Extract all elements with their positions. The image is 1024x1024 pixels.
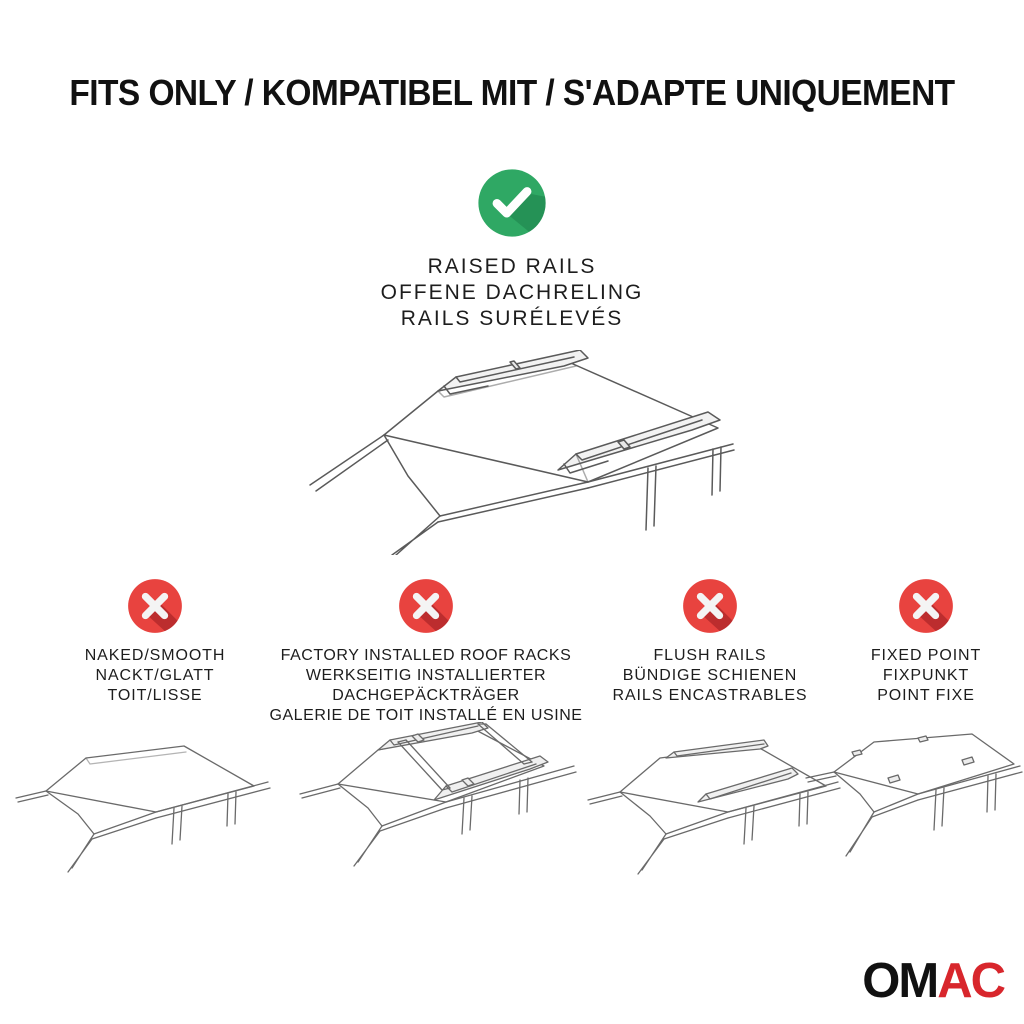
label-de-2: DACHGEPÄCKTRÄGER xyxy=(269,686,582,706)
compatible-section: RAISED RAILS OFFENE DACHRELING RAILS SUR… xyxy=(0,168,1024,332)
label-fr: POINT FIXE xyxy=(871,686,981,706)
label-de: FIXPUNKT xyxy=(871,666,981,686)
check-circle-icon xyxy=(477,168,547,238)
omac-logo: OMAC xyxy=(862,957,1004,1006)
incompatible-labels-flush-rails: FLUSH RAILS BÜNDIGE SCHIENEN RAILS ENCAS… xyxy=(613,646,808,706)
logo-text-dark: OM xyxy=(862,954,937,1008)
label-de: BÜNDIGE SCHIENEN xyxy=(613,666,808,686)
label-en: NAKED/SMOOTH xyxy=(85,646,226,666)
x-circle-icon xyxy=(127,578,183,634)
incompatible-labels-factory-racks: FACTORY INSTALLED ROOF RACKS WERKSEITIG … xyxy=(269,646,582,726)
label-de-1: WERKSEITIG INSTALLIERTER xyxy=(269,666,582,686)
compatible-labels: RAISED RAILS OFFENE DACHRELING RAILS SUR… xyxy=(381,254,644,332)
label-de: NACKT/GLATT xyxy=(85,666,226,686)
car-roof-factory-rack-illustration xyxy=(286,722,586,897)
incompatible-card-fixed-point: FIXED POINT FIXPUNKT POINT FIXE xyxy=(828,578,1024,706)
incompatible-labels-naked-smooth: NAKED/SMOOTH NACKT/GLATT TOIT/LISSE xyxy=(85,646,226,706)
label-fr: TOIT/LISSE xyxy=(85,686,226,706)
compatible-label-de: OFFENE DACHRELING xyxy=(381,280,644,306)
label-en: FACTORY INSTALLED ROOF RACKS xyxy=(269,646,582,666)
x-circle-icon xyxy=(682,578,738,634)
label-fr: RAILS ENCASTRABLES xyxy=(613,686,808,706)
page-title: FITS ONLY / KOMPATIBEL MIT / S'ADAPTE UN… xyxy=(36,72,988,114)
car-roof-raised-rails-illustration xyxy=(288,350,738,555)
x-circle-icon xyxy=(398,578,454,634)
compatible-label-fr: RAILS SURÉLEVÉS xyxy=(381,306,644,332)
incompatible-card-naked-smooth: NAKED/SMOOTH NACKT/GLATT TOIT/LISSE xyxy=(8,578,302,706)
incompatible-card-factory-racks: FACTORY INSTALLED ROOF RACKS WERKSEITIG … xyxy=(268,578,584,726)
label-en: FLUSH RAILS xyxy=(613,646,808,666)
x-circle-icon xyxy=(898,578,954,634)
car-roof-naked-illustration xyxy=(6,736,276,896)
incompatible-card-flush-rails: FLUSH RAILS BÜNDIGE SCHIENEN RAILS ENCAS… xyxy=(585,578,835,706)
compatible-label-en: RAISED RAILS xyxy=(381,254,644,280)
incompatible-labels-fixed-point: FIXED POINT FIXPUNKT POINT FIXE xyxy=(871,646,981,706)
fitment-infographic: FITS ONLY / KOMPATIBEL MIT / S'ADAPTE UN… xyxy=(0,0,1024,1024)
car-roof-fixed-point-illustration xyxy=(802,730,1024,890)
logo-text-accent: AC xyxy=(937,954,1004,1008)
label-en: FIXED POINT xyxy=(871,646,981,666)
